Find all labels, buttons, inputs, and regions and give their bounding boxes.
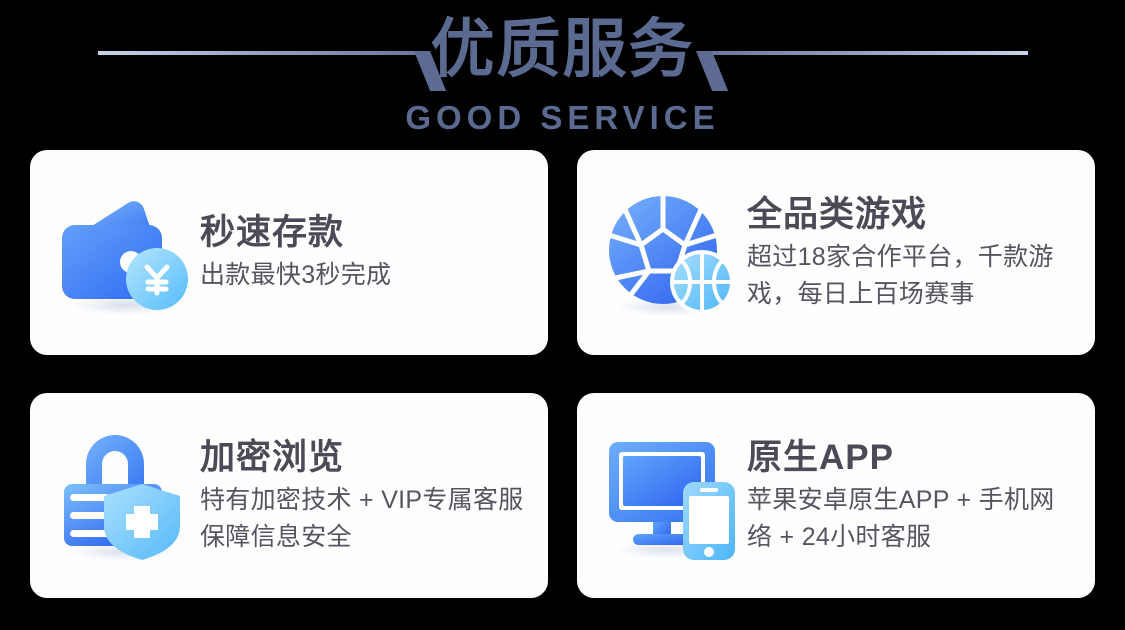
feature-card-grid: 秒速存款 出款最快3秒完成	[30, 150, 1095, 600]
banner-header: 优质服务 GOOD SERVICE	[0, 0, 1125, 148]
card-description: 出款最快3秒完成	[200, 257, 530, 294]
card-title: 全品类游戏	[747, 193, 1077, 237]
card-description: 超过18家合作平台，千款游戏，每日上百场赛事	[747, 239, 1077, 313]
card-description: 苹果安卓原生APP + 手机网络 + 24小时客服	[747, 482, 1077, 556]
card-text-block: 加密浏览 特有加密技术 + VIP专属客服保障信息安全	[194, 436, 530, 556]
monitor-phone-icon	[601, 426, 741, 566]
card-description: 特有加密技术 + VIP专属客服保障信息安全	[200, 482, 530, 556]
promo-banner: 优质服务 GOOD SERVICE	[0, 0, 1125, 630]
feature-card-encryption[interactable]: 加密浏览 特有加密技术 + VIP专属客服保障信息安全	[30, 393, 548, 598]
card-text-block: 原生APP 苹果安卓原生APP + 手机网络 + 24小时客服	[741, 436, 1077, 556]
card-title: 原生APP	[747, 436, 1077, 480]
feature-card-native-app[interactable]: 原生APP 苹果安卓原生APP + 手机网络 + 24小时客服	[577, 393, 1095, 598]
card-text-block: 全品类游戏 超过18家合作平台，千款游戏，每日上百场赛事	[741, 193, 1077, 313]
header-line-right	[710, 51, 1028, 55]
title-row: 优质服务	[0, 8, 1125, 90]
page-subtitle: GOOD SERVICE	[0, 98, 1125, 138]
card-title: 加密浏览	[200, 436, 530, 480]
feature-card-games[interactable]: 全品类游戏 超过18家合作平台，千款游戏，每日上百场赛事	[577, 150, 1095, 355]
page-title: 优质服务	[417, 10, 709, 88]
header-decoration-right	[709, 19, 1064, 79]
card-title: 秒速存款	[200, 211, 530, 255]
feature-card-deposit[interactable]: 秒速存款 出款最快3秒完成	[30, 150, 548, 355]
lock-shield-icon	[54, 426, 194, 566]
wallet-yen-icon	[54, 183, 194, 323]
soccer-basketball-icon	[601, 183, 741, 323]
header-decoration-left	[62, 19, 417, 79]
card-text-block: 秒速存款 出款最快3秒完成	[194, 211, 530, 294]
header-line-left	[98, 51, 416, 55]
